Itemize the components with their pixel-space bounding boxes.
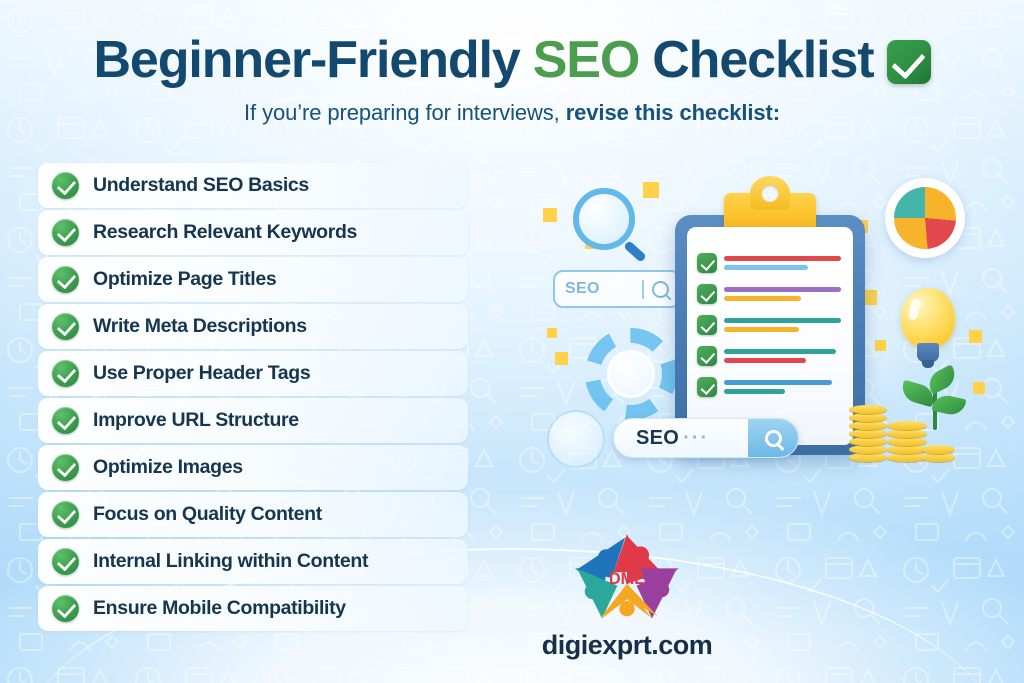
checklist-item-label: Use Proper Header Tags <box>93 362 310 385</box>
pie-chart-disc <box>894 187 956 249</box>
coin <box>921 453 955 462</box>
bulb-base <box>917 343 939 362</box>
magnifier-icon <box>573 188 635 250</box>
checklist-item[interactable]: Use Proper Header Tags <box>38 351 468 396</box>
clipboard-checklist-row <box>697 284 841 304</box>
sparkle-icon <box>547 328 557 338</box>
clipboard-row-lines <box>724 380 841 394</box>
coin <box>887 429 927 438</box>
green-check-square-icon <box>697 253 717 273</box>
subtitle-regular: If you’re preparing for interviews, <box>244 100 560 125</box>
decorative-glyph-icon <box>547 410 605 468</box>
green-check-circle-icon <box>52 172 79 199</box>
seo-search-pill[interactable]: SEO <box>553 270 681 308</box>
infographic-poster: Beginner-Friendly SEO Checklist If you’r… <box>0 0 1024 683</box>
clipboard-line <box>724 358 806 363</box>
green-check-square-icon <box>697 315 717 335</box>
coin <box>849 453 887 462</box>
magnifier-icon <box>765 430 782 447</box>
coin <box>921 445 955 454</box>
green-check-circle-icon <box>52 313 79 340</box>
coin <box>887 437 927 446</box>
seo-pill-label: SEO <box>565 280 600 298</box>
clipboard-line <box>724 256 841 261</box>
lightbulb-icon <box>897 288 959 374</box>
coin <box>849 445 887 454</box>
checklist-item[interactable]: Optimize Images <box>38 445 468 490</box>
magnifier-lens <box>573 188 635 250</box>
sparkle-icon <box>555 352 568 365</box>
clipboard-checklist-row <box>697 346 841 366</box>
clipboard-line <box>724 287 841 292</box>
clipboard-row-lines <box>724 349 841 363</box>
sparkle-icon <box>543 208 557 222</box>
magnifier-icon <box>652 281 669 298</box>
sparkle-icon <box>875 340 886 351</box>
coin <box>849 429 887 438</box>
checklist-item-label: Optimize Page Titles <box>93 268 276 291</box>
checklist-item[interactable]: Optimize Page Titles <box>38 257 468 302</box>
sparkle-icon <box>643 182 659 198</box>
clipboard-line <box>724 380 832 385</box>
checklist-item-label: Improve URL Structure <box>93 409 299 432</box>
green-check-circle-icon <box>52 407 79 434</box>
checklist-item-label: Focus on Quality Content <box>93 503 322 526</box>
brand-name: digiexprt.com <box>542 630 713 661</box>
title-part-1: Beginner-Friendly <box>93 34 519 86</box>
checklist-item[interactable]: Understand SEO Basics <box>38 163 468 208</box>
gear-ring-icon <box>585 328 677 420</box>
clipboard-line <box>724 349 836 354</box>
clipboard-checklist-row <box>697 253 841 273</box>
green-check-circle-icon <box>52 501 79 528</box>
digiexprt-star-logo: DME <box>567 530 687 626</box>
search-bar-dots: ··· <box>683 427 709 450</box>
checklist-item-label: Understand SEO Basics <box>93 174 309 197</box>
checklist-item-label: Write Meta Descriptions <box>93 315 307 338</box>
green-check-circle-icon <box>52 219 79 246</box>
clipboard-row-lines <box>724 318 841 332</box>
title-highlight-seo: SEO <box>533 34 640 86</box>
page-title: Beginner-Friendly SEO Checklist <box>0 34 1024 86</box>
clipboard-row-lines <box>724 287 841 301</box>
clipboard-page <box>687 227 853 445</box>
clipboard-row-lines <box>724 256 841 270</box>
seo-search-bar[interactable]: SEO ··· <box>613 418 799 458</box>
search-button[interactable] <box>748 419 798 457</box>
green-check-square-icon <box>887 40 931 84</box>
title-part-2: Checklist <box>652 34 873 86</box>
green-check-circle-icon <box>52 266 79 293</box>
coin <box>887 421 927 430</box>
checklist-item[interactable]: Improve URL Structure <box>38 398 468 443</box>
divider <box>642 280 644 299</box>
clipboard-line <box>724 265 808 270</box>
logo-center-text: DME <box>609 570 645 588</box>
clipboard-line <box>724 389 785 394</box>
coin <box>849 413 887 422</box>
pie-chart-icon <box>885 178 965 258</box>
green-check-circle-icon <box>52 454 79 481</box>
clipboard-checklist-row <box>697 315 841 335</box>
header: Beginner-Friendly SEO Checklist If you’r… <box>0 34 1024 126</box>
brand-footer: DME digiexprt.com <box>0 530 1024 661</box>
green-check-square-icon <box>697 284 717 304</box>
gear-inner-hub <box>607 350 655 398</box>
green-check-square-icon <box>697 377 717 397</box>
green-check-square-icon <box>697 346 717 366</box>
coin <box>849 421 887 430</box>
sparkle-icon <box>969 330 982 343</box>
checklist-item-label: Research Relevant Keywords <box>93 221 357 244</box>
green-check-circle-icon <box>52 360 79 387</box>
page-subtitle: If you’re preparing for interviews, revi… <box>0 100 1024 126</box>
clipboard-line <box>724 296 801 301</box>
coin <box>849 437 887 446</box>
subtitle-bold: revise this checklist: <box>566 100 780 125</box>
clipboard-line <box>724 318 841 323</box>
coin-stack-icon <box>845 400 965 462</box>
clipboard-checklist-row <box>697 377 841 397</box>
seo-illustration: SEO SEO ··· <box>525 160 1024 500</box>
coin <box>849 405 887 414</box>
search-bar-text: SEO <box>636 427 679 450</box>
checklist-item-label: Optimize Images <box>93 456 243 479</box>
checklist-item[interactable]: Write Meta Descriptions <box>38 304 468 349</box>
clipboard-line <box>724 327 799 332</box>
checklist-item[interactable]: Research Relevant Keywords <box>38 210 468 255</box>
